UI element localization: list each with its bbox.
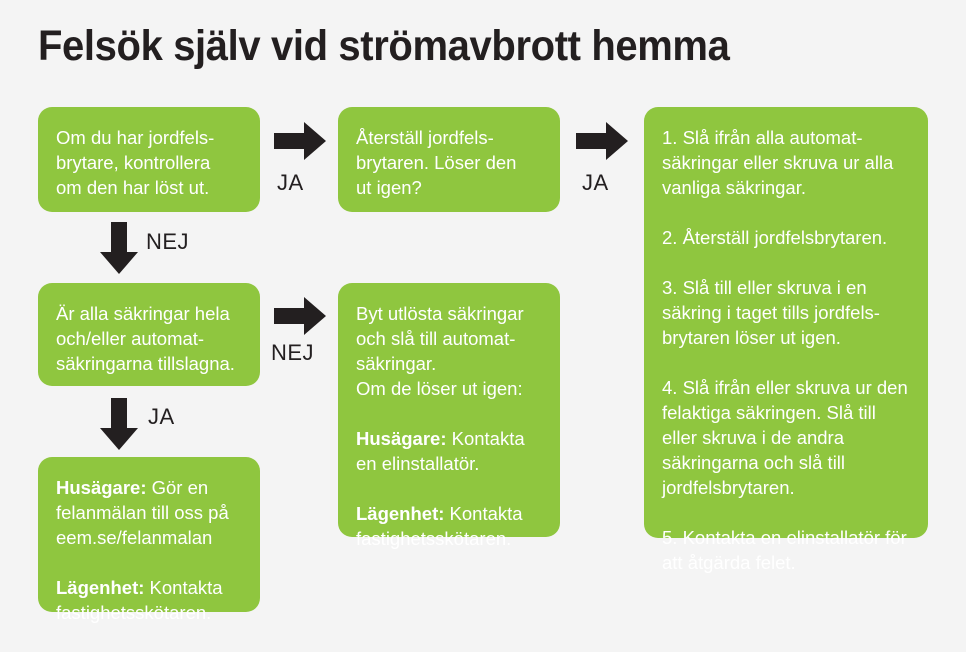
box-check-fuses-line-2: och/eller automat-: [56, 326, 242, 351]
step-4: 4. Slå ifrån eller skruva ur den felakti…: [662, 375, 910, 500]
arrow-label-ja-1: JA: [277, 172, 304, 194]
box-check-fuses: Är alla säkringar hela och/eller automat…: [38, 283, 260, 386]
box-replace-fuses: Byt utlösta säkringar och slå till autom…: [338, 283, 560, 537]
box-replace-fuses-homeowner: Husägare: Kontakta en elinstallatör.: [356, 426, 542, 476]
box-contact-homeowner: Husägare: Gör en felanmälan till oss på …: [56, 475, 242, 550]
box-check-fuses-line-1: Är alla säkringar hela: [56, 301, 242, 326]
box-contact: Husägare: Gör en felanmälan till oss på …: [38, 457, 260, 612]
step-2: 2. Återställ jordfelsbrytaren.: [662, 225, 910, 250]
arrow-down-nej-icon: [100, 222, 138, 274]
arrow-right-nej-icon: [274, 297, 326, 335]
contact-homeowner-label: Husägare:: [56, 477, 146, 498]
arrow-down-ja-icon: [100, 398, 138, 450]
page-title: Felsök själv vid strömavbrott hemma: [38, 22, 729, 70]
box-reset-breaker-line-2: brytaren. Löser den: [356, 150, 542, 175]
box-check-fuses-line-3: säkringarna tillslagna.: [56, 351, 242, 376]
box-reset-breaker: Återställ jordfels- brytaren. Löser den …: [338, 107, 560, 212]
box-replace-fuses-line-3: säkringar.: [356, 351, 542, 376]
arrow-label-ja-2: JA: [582, 172, 609, 194]
box-check-breaker-line-1: Om du har jordfels-: [56, 125, 242, 150]
flowchart-page: Felsök själv vid strömavbrott hemma Om d…: [0, 0, 966, 652]
step-3: 3. Slå till eller skruva i en säkring i …: [662, 275, 910, 350]
arrow-right-ja-1-icon: [274, 122, 326, 160]
step-5: 5. Kontakta en elinstallatör för att åtg…: [662, 525, 910, 575]
box-check-breaker-line-3: om den har löst ut.: [56, 175, 242, 200]
box-steps: 1. Slå ifrån alla automat-säkringar elle…: [644, 107, 928, 538]
box-replace-fuses-line-2: och slå till automat-: [356, 326, 542, 351]
box-contact-apartment: Lägenhet: Kontakta fastighetsskötaren.: [56, 575, 242, 625]
arrow-label-nej-right: NEJ: [271, 342, 314, 364]
arrow-right-ja-2-icon: [576, 122, 628, 160]
box-replace-fuses-line-1: Byt utlösta säkringar: [356, 301, 542, 326]
arrow-label-nej-down: NEJ: [146, 231, 189, 253]
box-check-breaker-line-2: brytare, kontrollera: [56, 150, 242, 175]
apartment-label: Lägenhet:: [356, 503, 444, 524]
contact-apartment-label: Lägenhet:: [56, 577, 144, 598]
box-reset-breaker-line-1: Återställ jordfels-: [356, 125, 542, 150]
arrow-label-ja-down: JA: [148, 406, 175, 428]
box-replace-fuses-line-4: Om de löser ut igen:: [356, 376, 542, 401]
box-reset-breaker-line-3: ut igen?: [356, 175, 542, 200]
step-1: 1. Slå ifrån alla automat-säkringar elle…: [662, 125, 910, 200]
box-check-breaker: Om du har jordfels- brytare, kontrollera…: [38, 107, 260, 212]
box-replace-fuses-apartment: Lägenhet: Kontakta fastighetsskötaren.: [356, 501, 542, 551]
homeowner-label: Husägare:: [356, 428, 446, 449]
